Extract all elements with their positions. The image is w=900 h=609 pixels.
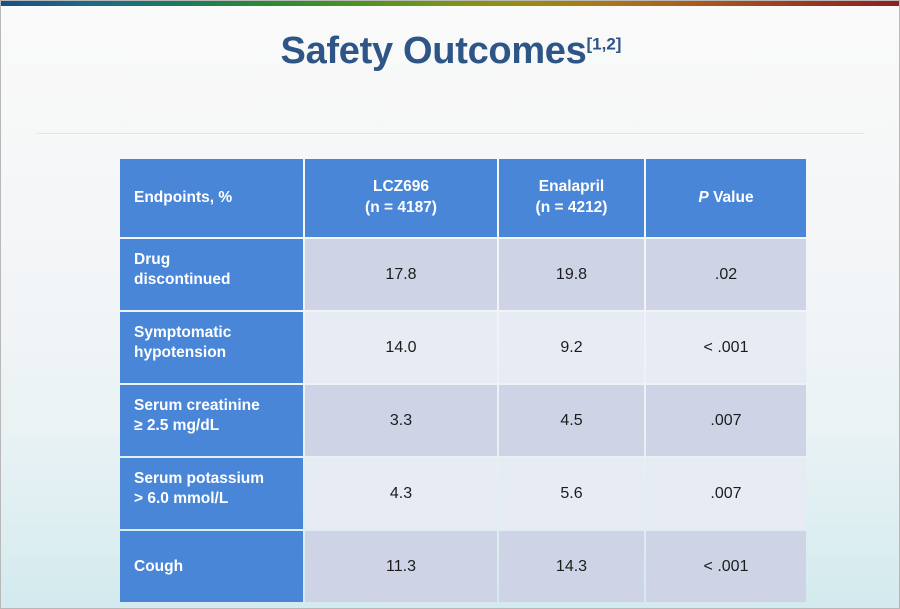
column-header-lcz696: LCZ696 (n = 4187): [305, 159, 497, 237]
cell-lcz696: 14.0: [305, 312, 497, 383]
slide-canvas: Safety Outcomes[1,2] Endpoints, % LCZ696…: [0, 0, 900, 609]
row-label-serum-creatinine: Serum creatinine ≥ 2.5 mg/dL: [120, 385, 303, 456]
header-divider: [37, 133, 865, 134]
column-header-endpoints-label: Endpoints, %: [134, 189, 232, 206]
column-header-p-value-italic: P: [698, 189, 708, 206]
cell-p-value: .007: [646, 458, 806, 529]
cell-lcz696: 17.8: [305, 239, 497, 310]
column-header-endpoints: Endpoints, %: [120, 159, 303, 237]
cell-lcz696: 4.3: [305, 458, 497, 529]
table-header-row: Endpoints, % LCZ696 (n = 4187) Enalapril…: [120, 159, 806, 237]
column-header-p-value-label: Value: [709, 189, 754, 206]
cell-p-value: .02: [646, 239, 806, 310]
row-label-line2: discontinued: [134, 271, 230, 288]
table-row: Serum potassium > 6.0 mmol/L 4.3 5.6 .00…: [120, 458, 806, 529]
page-title-reference-superscript: [1,2]: [586, 34, 621, 53]
row-label-symptomatic-hypotension: Symptomatic hypotension: [120, 312, 303, 383]
table-row: Symptomatic hypotension 14.0 9.2 < .001: [120, 312, 806, 383]
row-label-line2: > 6.0 mmol/L: [134, 490, 228, 507]
row-label-line1: Cough: [134, 558, 183, 575]
table-row: Serum creatinine ≥ 2.5 mg/dL 3.3 4.5 .00…: [120, 385, 806, 456]
top-gradient-bar: [1, 1, 900, 6]
cell-p-value: .007: [646, 385, 806, 456]
row-label-line1: Drug: [134, 251, 170, 268]
table-row: Cough 11.3 14.3 < .001: [120, 531, 806, 602]
cell-enalapril: 5.6: [499, 458, 644, 529]
cell-enalapril: 9.2: [499, 312, 644, 383]
row-label-line1: Serum potassium: [134, 470, 264, 487]
table-body: Drug discontinued 17.8 19.8 .02 Symptoma…: [120, 239, 806, 602]
cell-lcz696: 3.3: [305, 385, 497, 456]
cell-enalapril: 14.3: [499, 531, 644, 602]
column-header-enalapril-label: Enalapril: [539, 178, 604, 195]
row-label-serum-potassium: Serum potassium > 6.0 mmol/L: [120, 458, 303, 529]
cell-lcz696: 11.3: [305, 531, 497, 602]
table-header: Endpoints, % LCZ696 (n = 4187) Enalapril…: [120, 159, 806, 237]
row-label-line1: Symptomatic: [134, 324, 231, 341]
row-label-line1: Serum creatinine: [134, 397, 260, 414]
cell-enalapril: 19.8: [499, 239, 644, 310]
safety-outcomes-table: Endpoints, % LCZ696 (n = 4187) Enalapril…: [118, 157, 808, 604]
row-label-drug-discontinued: Drug discontinued: [120, 239, 303, 310]
column-header-lcz696-sub: (n = 4187): [365, 199, 437, 216]
row-label-line2: hypotension: [134, 344, 226, 361]
title-area: Safety Outcomes[1,2]: [1, 31, 900, 73]
row-label-cough: Cough: [120, 531, 303, 602]
column-header-enalapril: Enalapril (n = 4212): [499, 159, 644, 237]
safety-outcomes-table-wrap: Endpoints, % LCZ696 (n = 4187) Enalapril…: [120, 159, 798, 602]
cell-p-value: < .001: [646, 531, 806, 602]
column-header-p-value: P Value: [646, 159, 806, 237]
cell-enalapril: 4.5: [499, 385, 644, 456]
table-row: Drug discontinued 17.8 19.8 .02: [120, 239, 806, 310]
cell-p-value: < .001: [646, 312, 806, 383]
column-header-enalapril-sub: (n = 4212): [536, 199, 608, 216]
page-title: Safety Outcomes[1,2]: [281, 31, 622, 73]
column-header-lcz696-label: LCZ696: [373, 178, 429, 195]
row-label-line2: ≥ 2.5 mg/dL: [134, 417, 219, 434]
page-title-text: Safety Outcomes: [281, 30, 587, 72]
